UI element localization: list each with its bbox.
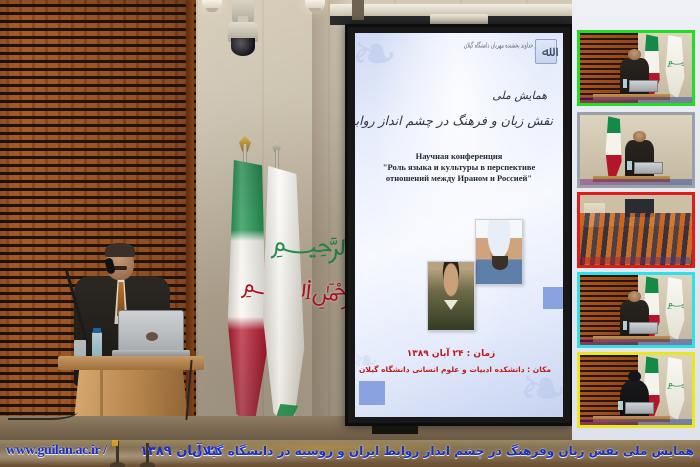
floor-cable [8, 398, 78, 420]
laptop-on-podium [118, 310, 184, 352]
candle [112, 440, 118, 446]
slide-title-ru-line2: "Роль языка и культуры в перспективе [355, 162, 563, 173]
website-url[interactable]: www.guilan.ac.ir / [6, 443, 107, 459]
slide-title-ru-line1: Научная конференция [355, 151, 563, 162]
portrait-saadi-beard [492, 256, 508, 270]
thumbnail-strip [572, 0, 700, 440]
thumb-speaker-chador [620, 380, 649, 421]
thumbnail-speaker-4[interactable] [577, 352, 695, 428]
portrait-pushkin [427, 261, 475, 331]
flag-calligraphy: ﷽ [268, 225, 307, 293]
slide-title-fa-line1: همایش ملی [415, 89, 547, 102]
slide-title-ru-line3: отношений между Ираном и Россией" [355, 173, 563, 184]
thumbnail-image [580, 33, 692, 103]
ceiling-gap [352, 0, 364, 20]
laptop-logo [146, 332, 158, 341]
website-url-text: www.guilan.ac.ir [6, 443, 100, 458]
slide-title-fa-line2: نقش زبان و فرهنگ در چشم انداز روابط ایرا… [363, 113, 553, 128]
conference-hall-photo: ﷽ ﷽ ❧ ❧ ❧ [0, 0, 572, 440]
thumb-water-bottle [623, 321, 627, 329]
slide-date-line: زمان : ۲۴ آبان ۱۳۸۹ [355, 349, 547, 359]
thumb-caption-bar [580, 179, 692, 185]
thumbnail-image [580, 115, 692, 185]
portrait-pushkin-face [428, 262, 474, 330]
thumb-caption-bar [580, 419, 692, 425]
thumbnail-speaker-2[interactable] [577, 112, 695, 188]
thumb-water-bottle [618, 401, 622, 409]
slide-header-line: به نام خداوند بخشنده مهربان دانشگاه گیلا… [355, 43, 545, 51]
camera-dome-lens [231, 38, 255, 56]
slide-title-ru: Научная конференция "Роль языка и культу… [355, 151, 563, 184]
thumb-caption-bar [580, 339, 692, 345]
thumb-watermark [582, 257, 690, 264]
university-of-guilan-logo: ﷲ [535, 39, 557, 64]
slide-accent-square [359, 381, 385, 405]
thumb-water-bottle [627, 161, 631, 169]
thumbnail-image [580, 195, 692, 265]
thumb-laptop [629, 80, 658, 92]
thumbnail-image [580, 275, 692, 345]
portrait-saadi [475, 219, 523, 285]
slide-accent-square [543, 287, 563, 309]
thumb-caption-bar [580, 97, 692, 103]
thumbnail-speaker-3[interactable] [577, 272, 695, 348]
thumb-laptop [629, 322, 658, 334]
thumbnail-audience[interactable] [577, 192, 695, 268]
thumbnail-image [580, 355, 692, 425]
speaker-hair [105, 243, 135, 257]
bottle-cap [93, 328, 101, 333]
caption-separator: / [103, 443, 107, 458]
water-bottle [92, 332, 102, 358]
conference-slide: ❧ ❧ ❧ به نام خداوند بخشنده مهربان دانشگا… [355, 33, 563, 417]
screenshot-stage: ﷽ ﷽ ❧ ❧ ❧ [0, 0, 700, 467]
thumb-water-bottle [623, 79, 627, 87]
slide-venue-line: مکان : دانشکده ادبیات و علوم انسانی دانش… [355, 365, 555, 374]
thumb-laptop [634, 162, 663, 174]
caption-title: همایش ملی نقش زبان وفرهنگ در چشم انداز ر… [192, 444, 694, 458]
ornament-icon: ❧ [355, 33, 398, 83]
podium-top [58, 356, 204, 370]
projection-screen: ❧ ❧ ❧ به نام خداوند بخشنده مهربان دانشگا… [345, 24, 572, 426]
portrait-saadi-face [476, 220, 522, 284]
thumbnail-speaker-1[interactable] [577, 30, 695, 106]
caption-bar: www.guilan.ac.ir / ۲۴ آبان ۱۳۸۹ همایش مل… [0, 440, 700, 467]
thumb-laptop [625, 402, 654, 414]
screen-foot [372, 426, 418, 434]
